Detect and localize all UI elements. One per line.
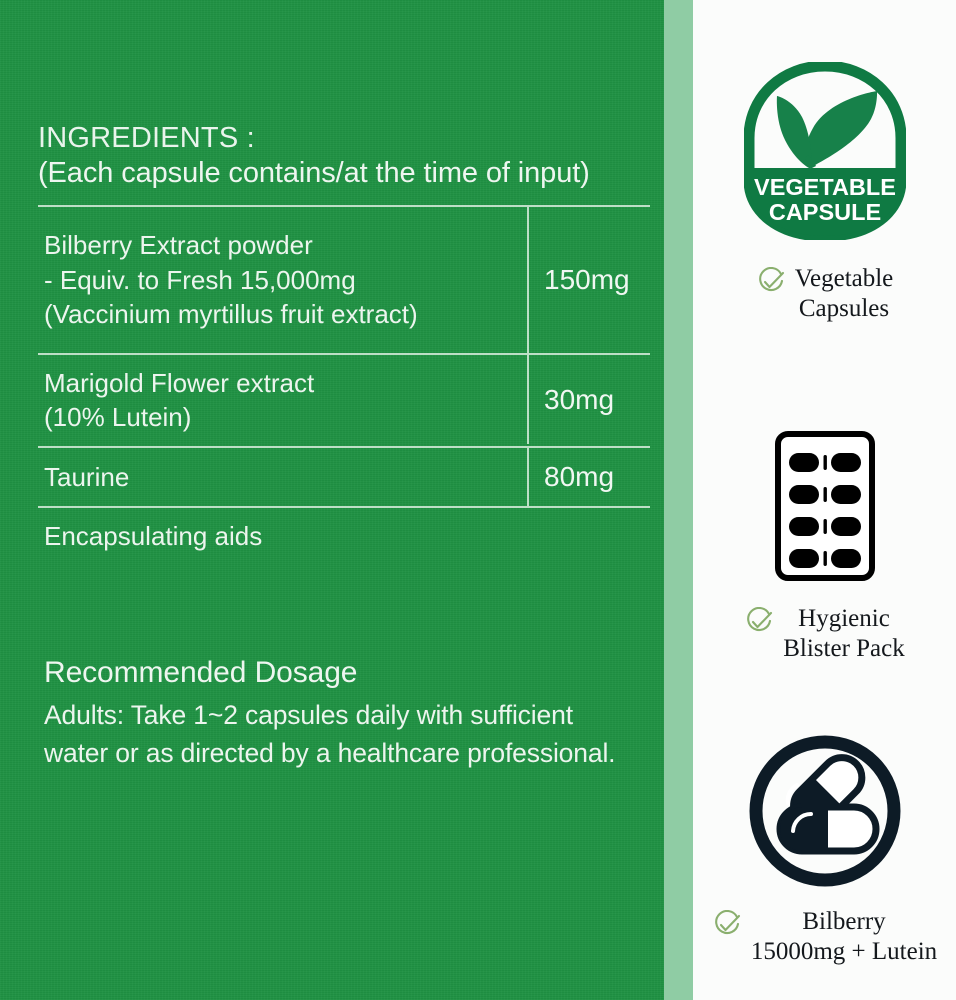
- encapsulating-aids-row: Encapsulating aids: [38, 508, 650, 552]
- badge-caption: Vegetable Capsules: [693, 264, 956, 323]
- vegetable-capsule-seal-svg: VEGETABLE CAPSULE: [744, 62, 906, 240]
- ingredients-panel-content: INGREDIENTS : (Each capsule contains/at …: [38, 122, 650, 772]
- table-column-divider: [527, 207, 529, 353]
- product-label-image: INGREDIENTS : (Each capsule contains/at …: [0, 0, 956, 1000]
- ingredients-subheading: (Each capsule contains/at the time of in…: [38, 156, 650, 191]
- dosage-title: Recommended Dosage: [38, 656, 650, 690]
- ingredient-name: Bilberry Extract powder - Equiv. to Fres…: [38, 217, 527, 343]
- circle-check-icon: [712, 910, 742, 945]
- recommended-dosage-section: Recommended Dosage Adults: Take 1~2 caps…: [38, 656, 650, 772]
- blister-pack-svg: [774, 430, 876, 582]
- blister-pack-icon: [774, 430, 876, 582]
- badge-label: Bilberry 15000mg + Lutein: [751, 907, 937, 966]
- ingredient-name: Taurine: [38, 449, 527, 506]
- ingredient-amount: 30mg: [527, 384, 650, 416]
- circle-check-icon: [744, 607, 774, 642]
- ingredients-panel: INGREDIENTS : (Each capsule contains/at …: [0, 0, 664, 1000]
- badge-hygienic-blister-pack: Hygienic Blister Pack: [693, 430, 956, 663]
- ingredients-table: Bilberry Extract powder - Equiv. to Fres…: [38, 205, 650, 552]
- feature-badges-column: VEGETABLE CAPSULE Vegetable Capsules: [693, 0, 956, 1000]
- badge-label: Vegetable Capsules: [795, 264, 894, 323]
- dosage-instructions: Adults: Take 1~2 capsules daily with suf…: [38, 697, 650, 772]
- capsules-circle-svg: [749, 735, 901, 887]
- table-row: Taurine 80mg: [38, 448, 650, 506]
- svg-text:CAPSULE: CAPSULE: [768, 199, 880, 225]
- capsules-circle-icon: [749, 735, 901, 887]
- badge-bilberry-lutein: Bilberry 15000mg + Lutein: [693, 735, 956, 966]
- badge-vegetable-capsules: VEGETABLE CAPSULE Vegetable Capsules: [693, 62, 956, 323]
- ingredients-heading: INGREDIENTS :: [38, 122, 650, 155]
- svg-text:VEGETABLE: VEGETABLE: [754, 174, 896, 200]
- ingredient-name: Marigold Flower extract (10% Lutein): [38, 355, 527, 446]
- ingredient-amount: 80mg: [527, 461, 650, 493]
- table-column-divider: [527, 355, 529, 444]
- table-column-divider: [527, 448, 529, 506]
- table-row: Marigold Flower extract (10% Lutein) 30m…: [38, 355, 650, 446]
- circle-check-icon: [756, 267, 786, 302]
- table-row: Bilberry Extract powder - Equiv. to Fres…: [38, 207, 650, 353]
- badge-caption: Hygienic Blister Pack: [693, 604, 956, 663]
- vegetable-capsule-seal-icon: VEGETABLE CAPSULE: [744, 62, 906, 240]
- badge-caption: Bilberry 15000mg + Lutein: [693, 907, 956, 966]
- badge-label: Hygienic Blister Pack: [783, 604, 905, 663]
- panel-edge-strip: [664, 0, 693, 1000]
- ingredient-amount: 150mg: [527, 264, 650, 296]
